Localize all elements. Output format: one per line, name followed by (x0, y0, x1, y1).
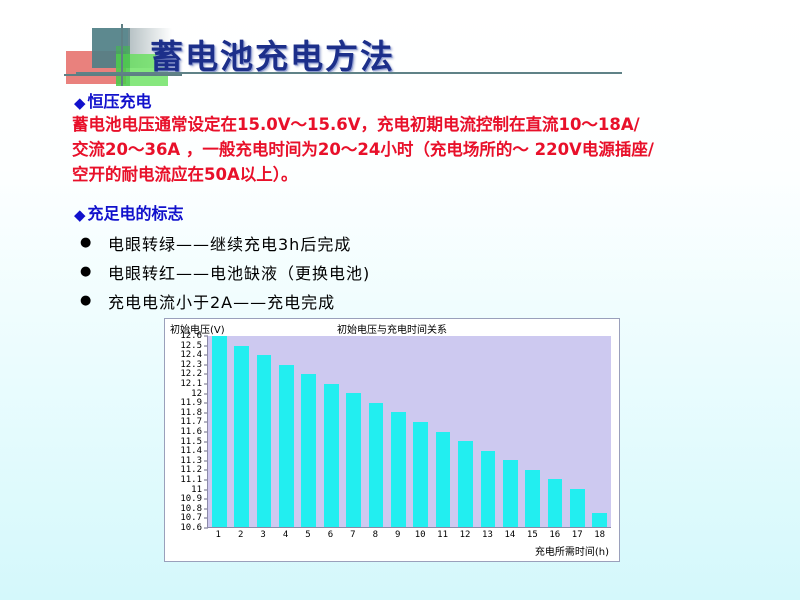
chart-x-axis: 123456789101112131415161718 (207, 530, 611, 543)
chart-bar (346, 393, 361, 527)
chart-bar-cell (230, 336, 252, 527)
chart-x-tick: 13 (476, 530, 498, 543)
chart-bar-cell (521, 336, 543, 527)
chart-bar (234, 346, 249, 527)
chart-title: 初始电压与充电时间关系 (165, 321, 619, 336)
chart-bar (570, 489, 585, 527)
chart-bar-cell (432, 336, 454, 527)
chart-bar (525, 470, 540, 527)
bullet-list: ● 电眼转绿——继续充电3h后完成 ● 电眼转红——电池缺液（更换电池) ● 充… (80, 228, 370, 315)
chart-bar (481, 451, 496, 527)
bullet-dot-icon: ● (80, 264, 108, 279)
chart-bar-cell (208, 336, 230, 527)
slide: 蓄电池充电方法 ◆恒压充电 蓄电池电压通常设定在15.0V～15.6V，充电初期… (0, 0, 800, 600)
chart-y-tick: 11.6 (180, 427, 202, 437)
chart-x-tick: 8 (364, 530, 386, 543)
chart-y-tick: 11.5 (180, 437, 202, 447)
chart-bar-cell (320, 336, 342, 527)
chart-y-tick: 12.5 (180, 341, 202, 351)
chart-bars (208, 336, 611, 527)
list-item-label: 充电电流小于2A——充电完成 (108, 289, 335, 313)
chart-x-tick: 7 (342, 530, 364, 543)
logo-green-accent (116, 46, 130, 86)
list-item: ● 电眼转绿——继续充电3h后完成 (80, 228, 370, 257)
list-item-label: 电眼转绿——继续充电3h后完成 (108, 231, 351, 255)
chart-x-tick: 3 (252, 530, 274, 543)
chart-y-tick: 11.2 (180, 465, 202, 475)
chart-y-tick: 12.4 (180, 350, 202, 360)
chart-x-tick: 17 (566, 530, 588, 543)
paragraph-line: 交流20～36A ，一般充电时间为20～24小时（充电场所的～ 220V电源插座… (72, 137, 732, 162)
chart-x-tick: 14 (499, 530, 521, 543)
bar-chart: 初始电压(V) 初始电压与充电时间关系 12.612.512.412.312.2… (164, 318, 620, 562)
chart-x-tick: 12 (454, 530, 476, 543)
chart-y-tick: 11.3 (180, 456, 202, 466)
chart-x-tick: 18 (588, 530, 610, 543)
chart-y-tick: 12.1 (180, 379, 202, 389)
list-item: ● 电眼转红——电池缺液（更换电池) (80, 257, 370, 286)
chart-bar (279, 365, 294, 527)
chart-y-axis: 12.612.512.412.312.212.11211.911.811.711… (165, 336, 205, 528)
chart-x-tick: 4 (274, 530, 296, 543)
chart-bar-cell (387, 336, 409, 527)
section-heading-1-label: 恒压充电 (88, 92, 152, 111)
chart-x-tick: 5 (297, 530, 319, 543)
page-title: 蓄电池充电方法 (150, 30, 395, 78)
chart-bar (436, 432, 451, 528)
chart-bar-cell (275, 336, 297, 527)
chart-bar-cell (365, 336, 387, 527)
chart-x-tick: 6 (319, 530, 341, 543)
chart-y-tick: 10.9 (180, 494, 202, 504)
chart-bar-cell (253, 336, 275, 527)
chart-bar-cell (477, 336, 499, 527)
chart-y-tick: 11 (191, 485, 202, 495)
chart-bar (592, 513, 607, 527)
chart-x-tick: 15 (521, 530, 543, 543)
chart-bar (413, 422, 428, 527)
chart-bar-cell (410, 336, 432, 527)
paragraph-line: 蓄电池电压通常设定在15.0V～15.6V，充电初期电流控制在直流10～18A/ (72, 112, 732, 137)
chart-x-tick: 9 (387, 530, 409, 543)
chart-bar (257, 355, 272, 527)
chart-y-tick: 11.4 (180, 446, 202, 456)
list-item-label: 电眼转红——电池缺液（更换电池) (108, 260, 370, 284)
list-item: ● 充电电流小于2A——充电完成 (80, 286, 370, 315)
section-heading-2-label: 充足电的标志 (88, 204, 184, 223)
chart-y-tick: 11.8 (180, 408, 202, 418)
chart-x-tick: 11 (431, 530, 453, 543)
chart-x-tick: 2 (229, 530, 251, 543)
chart-y-tick: 12.3 (180, 360, 202, 370)
chart-bar-cell (566, 336, 588, 527)
chart-bar (548, 479, 563, 527)
bullet-dot-icon: ● (80, 235, 108, 250)
chart-y-tick: 11.7 (180, 417, 202, 427)
chart-bar-cell (499, 336, 521, 527)
chart-bar (503, 460, 518, 527)
section-heading-2: ◆充足电的标志 (74, 200, 184, 224)
chart-x-tick: 1 (207, 530, 229, 543)
section-heading-1: ◆恒压充电 (74, 88, 152, 112)
logo-vertical-line (121, 24, 123, 86)
title-divider (76, 72, 622, 74)
bullet-dot-icon: ● (80, 293, 108, 308)
chart-y-tick: 10.6 (180, 523, 202, 533)
chart-bar-cell (342, 336, 364, 527)
diamond-icon: ◆ (74, 206, 86, 224)
chart-y-tick: 10.7 (180, 513, 202, 523)
chart-y-tick: 11.1 (180, 475, 202, 485)
chart-x-tick: 10 (409, 530, 431, 543)
paragraph-block: 蓄电池电压通常设定在15.0V～15.6V，充电初期电流控制在直流10～18A/… (72, 112, 732, 187)
chart-y-tick: 12.2 (180, 369, 202, 379)
chart-bar (458, 441, 473, 527)
chart-bar (212, 336, 227, 527)
chart-bar (301, 374, 316, 527)
chart-bar (369, 403, 384, 527)
chart-y-tick: 11.9 (180, 398, 202, 408)
chart-bar-cell (298, 336, 320, 527)
chart-bar-cell (454, 336, 476, 527)
chart-plot-area (207, 336, 611, 528)
chart-y-tick: 12 (191, 389, 202, 399)
chart-bar-cell (544, 336, 566, 527)
chart-bar (324, 384, 339, 527)
chart-bar-cell (589, 336, 611, 527)
chart-x-tick: 16 (544, 530, 566, 543)
chart-x-axis-label: 充电所需时间(h) (535, 543, 609, 558)
paragraph-line: 空开的耐电流应在50A以上）。 (72, 162, 732, 187)
chart-bar (391, 412, 406, 527)
chart-y-tick: 10.8 (180, 504, 202, 514)
diamond-icon: ◆ (74, 94, 86, 112)
chart-y-tick: 12.6 (180, 331, 202, 341)
